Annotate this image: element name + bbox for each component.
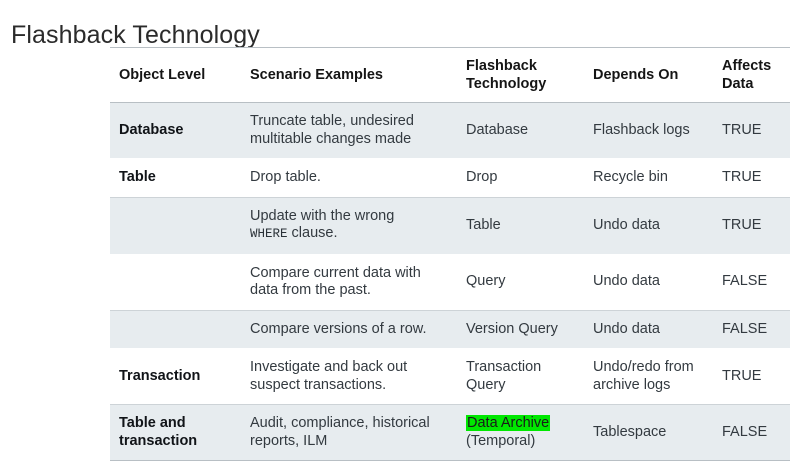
cell-depends-on: Undo data bbox=[578, 310, 708, 349]
scenario-line-2: clause. bbox=[288, 225, 338, 241]
cell-affects-data: TRUE bbox=[708, 159, 790, 198]
cell-technology: Table bbox=[450, 197, 578, 254]
depends-on-line-1: Undo/redo from bbox=[593, 359, 694, 375]
cell-depends-on: Flashback logs bbox=[578, 103, 708, 159]
cell-affects-data: FALSE bbox=[708, 254, 790, 310]
depends-on-line-2: archive logs bbox=[593, 377, 670, 393]
cell-object-level: Table and transaction bbox=[110, 405, 234, 461]
cell-object-level bbox=[110, 254, 234, 310]
scenario-line-1: Audit, compliance, historical bbox=[250, 415, 430, 431]
flashback-technology-table-container: Object Level Scenario Examples Flashback… bbox=[110, 47, 790, 461]
cell-technology: Transaction Query bbox=[450, 349, 578, 405]
technology-line-1: Transaction bbox=[466, 359, 541, 375]
cell-affects-data: FALSE bbox=[708, 310, 790, 349]
scenario-line-1: Compare current data with bbox=[250, 265, 421, 281]
table-row: Table and transaction Audit, compliance,… bbox=[110, 405, 790, 461]
object-level-line-1: Table and bbox=[119, 415, 186, 431]
cell-depends-on: Undo data bbox=[578, 254, 708, 310]
scenario-sql-keyword: WHERE bbox=[250, 227, 288, 241]
scenario-line-2: suspect transactions. bbox=[250, 377, 386, 393]
cell-affects-data: TRUE bbox=[708, 349, 790, 405]
column-header-scenario: Scenario Examples bbox=[234, 48, 450, 103]
table-row: Database Truncate table, undesired multi… bbox=[110, 103, 790, 159]
cell-scenario: Audit, compliance, historical reports, I… bbox=[234, 405, 450, 461]
table-header-row: Object Level Scenario Examples Flashback… bbox=[110, 48, 790, 103]
cell-technology: Drop bbox=[450, 159, 578, 198]
cell-object-level: Table bbox=[110, 159, 234, 198]
cell-technology: Version Query bbox=[450, 310, 578, 349]
scenario-line-1: Truncate table, undesired bbox=[250, 113, 414, 129]
technology-highlighted-text: Data Archive bbox=[466, 415, 550, 431]
cell-scenario: Compare versions of a row. bbox=[234, 310, 450, 349]
cell-depends-on: Tablespace bbox=[578, 405, 708, 461]
cell-object-level bbox=[110, 310, 234, 349]
table-header: Object Level Scenario Examples Flashback… bbox=[110, 48, 790, 103]
scenario-line-2: reports, ILM bbox=[250, 433, 327, 449]
scenario-line-1: Drop table. bbox=[250, 169, 321, 185]
cell-object-level: Database bbox=[110, 103, 234, 159]
column-header-affects-data: Affects Data bbox=[708, 48, 790, 103]
cell-depends-on: Undo data bbox=[578, 197, 708, 254]
cell-affects-data: FALSE bbox=[708, 405, 790, 461]
technology-line-2: (Temporal) bbox=[466, 433, 535, 449]
cell-affects-data: TRUE bbox=[708, 103, 790, 159]
cell-object-level: Transaction bbox=[110, 349, 234, 405]
technology-line-2: Query bbox=[466, 377, 506, 393]
table-row: Transaction Investigate and back out sus… bbox=[110, 349, 790, 405]
cell-scenario: Update with the wrong WHERE clause. bbox=[234, 197, 450, 254]
table-row: Compare versions of a row. Version Query… bbox=[110, 310, 790, 349]
cell-depends-on: Undo/redo from archive logs bbox=[578, 349, 708, 405]
cell-technology: Data Archive (Temporal) bbox=[450, 405, 578, 461]
column-header-technology: Flashback Technology bbox=[450, 48, 578, 103]
table-row: Update with the wrong WHERE clause. Tabl… bbox=[110, 197, 790, 254]
column-header-object-level: Object Level bbox=[110, 48, 234, 103]
flashback-technology-table: Object Level Scenario Examples Flashback… bbox=[110, 47, 790, 461]
cell-scenario: Drop table. bbox=[234, 159, 450, 198]
cell-affects-data: TRUE bbox=[708, 197, 790, 254]
scenario-line-1: Update with the wrong bbox=[250, 208, 394, 224]
table-row: Table Drop table. Drop Recycle bin TRUE bbox=[110, 159, 790, 198]
cell-technology: Database bbox=[450, 103, 578, 159]
object-level-line-2: transaction bbox=[119, 433, 197, 449]
cell-scenario: Compare current data with data from the … bbox=[234, 254, 450, 310]
table-body: Database Truncate table, undesired multi… bbox=[110, 103, 790, 461]
table-row: Compare current data with data from the … bbox=[110, 254, 790, 310]
scenario-line-2: multitable changes made bbox=[250, 131, 411, 147]
cell-depends-on: Recycle bin bbox=[578, 159, 708, 198]
cell-scenario: Truncate table, undesired multitable cha… bbox=[234, 103, 450, 159]
cell-object-level bbox=[110, 197, 234, 254]
page-title: Flashback Technology bbox=[11, 19, 260, 51]
cell-scenario: Investigate and back out suspect transac… bbox=[234, 349, 450, 405]
column-header-depends-on: Depends On bbox=[578, 48, 708, 103]
scenario-line-2: data from the past. bbox=[250, 282, 371, 298]
cell-technology: Query bbox=[450, 254, 578, 310]
scenario-line-1: Investigate and back out bbox=[250, 359, 407, 375]
